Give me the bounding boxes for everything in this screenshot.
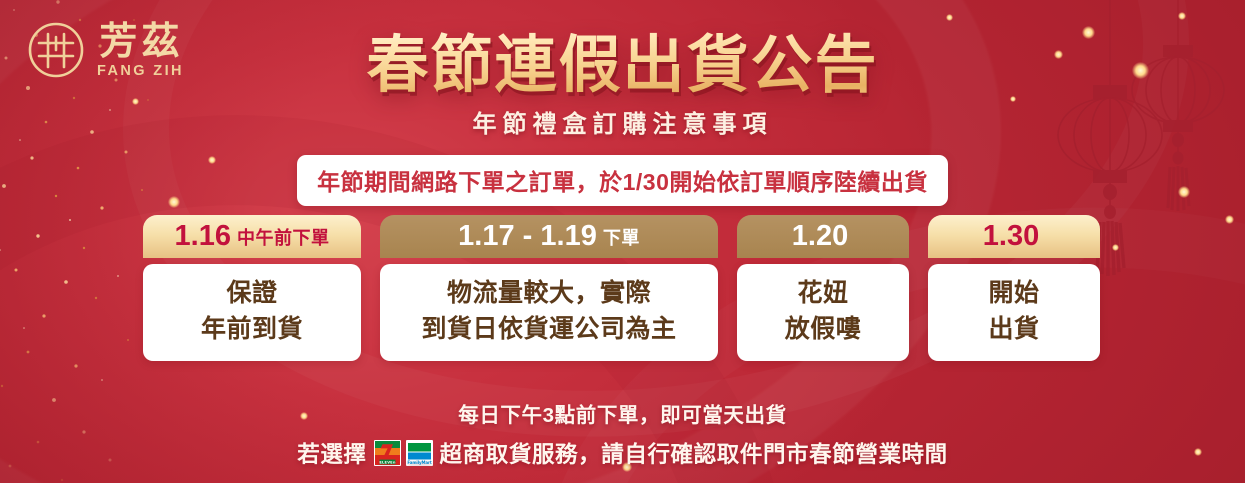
schedule-card: 1.16 中午前下單 保證 年前到貨 <box>143 215 361 361</box>
schedule-card-line: 到貨日依貨運公司為主 <box>421 312 676 348</box>
schedule-card-date: 1.17 - 1.19 <box>458 220 597 253</box>
schedule-card-line: 開始 <box>988 276 1039 312</box>
notice-banner: 年節期間網路下單之訂單，於1/30開始依訂單順序陸續出貨 <box>297 155 948 206</box>
schedule-card-body: 開始 出貨 <box>928 264 1100 361</box>
schedule-card-header: 1.16 中午前下單 <box>143 215 361 258</box>
schedule-card: 1.30 開始 出貨 <box>928 215 1100 361</box>
footer-line-2-suffix: 超商取貨服務，請自行確認取件門市春節營業時間 <box>440 437 948 469</box>
schedule-card-line: 出貨 <box>988 312 1039 348</box>
seven-eleven-logo-icon: ELEVEn <box>374 440 401 466</box>
schedule-card-line: 放假嘍 <box>785 312 862 348</box>
schedule-card-line: 物流量較大，實際 <box>447 276 651 312</box>
footer-line-2: 若選擇 ELEVEn FamilyMart 超商取 <box>0 437 1245 469</box>
svg-text:ELEVEn: ELEVEn <box>379 460 395 464</box>
schedule-card: 1.17 - 1.19 下單 物流量較大，實際 到貨日依貨運公司為主 <box>380 215 718 361</box>
schedule-card-header: 1.17 - 1.19 下單 <box>380 215 718 258</box>
footer-line-1: 每日下午3點前下單，即可當天出貨 <box>0 398 1245 428</box>
notice-container: 年節期間網路下單之訂單，於1/30開始依訂單順序陸續出貨 <box>0 155 1245 206</box>
store-logos: ELEVEn FamilyMart <box>374 440 433 466</box>
schedule-card: 1.20 花妞 放假嘍 <box>737 215 909 361</box>
schedule-card-note: 下單 <box>603 224 640 250</box>
schedule-card-date: 1.16 <box>175 220 231 253</box>
schedule-card-note: 中午前下單 <box>237 224 330 250</box>
schedule-card-date: 1.30 <box>983 220 1039 253</box>
headline-container: 春節連假出貨公告 <box>0 14 1245 104</box>
page-title: 春節連假出貨公告 <box>360 14 884 104</box>
brand-name-en: FANG ZIH <box>95 64 184 79</box>
schedule-card-line: 花妞 <box>797 276 848 312</box>
svg-text:FamilyMart: FamilyMart <box>407 460 431 465</box>
schedule-card-line: 保證 <box>226 276 277 312</box>
schedule-card-body: 保證 年前到貨 <box>143 264 361 361</box>
schedule-card-line: 年前到貨 <box>201 312 303 348</box>
footer-line-2-prefix: 若選擇 <box>297 437 366 469</box>
schedule-cards: 1.16 中午前下單 保證 年前到貨 1.17 - 1.19 下單 物流量較大，… <box>143 215 1100 361</box>
page-subtitle: 年節禮盒訂購注意事項 <box>0 104 1245 139</box>
footer-notes: 每日下午3點前下單，即可當天出貨 若選擇 ELEVEn FamilyMa <box>0 398 1245 469</box>
fangzih-circle-emblem-icon <box>26 20 86 80</box>
schedule-card-body: 花妞 放假嘍 <box>737 264 909 361</box>
schedule-card-body: 物流量較大，實際 到貨日依貨運公司為主 <box>380 264 718 361</box>
schedule-card-header: 1.20 <box>737 215 909 258</box>
brand-name-cn: 芳茲 <box>95 22 183 60</box>
chinese-new-year-shipping-announcement-banner: 芳茲 FANG ZIH 春節連假出貨公告 年節禮盒訂購注意事項 年節期間網路下單… <box>0 0 1245 483</box>
schedule-card-date: 1.20 <box>792 220 848 253</box>
familymart-logo-icon: FamilyMart <box>406 440 433 466</box>
schedule-card-header: 1.30 <box>928 215 1100 258</box>
brand-logo: 芳茲 FANG ZIH <box>26 20 184 80</box>
